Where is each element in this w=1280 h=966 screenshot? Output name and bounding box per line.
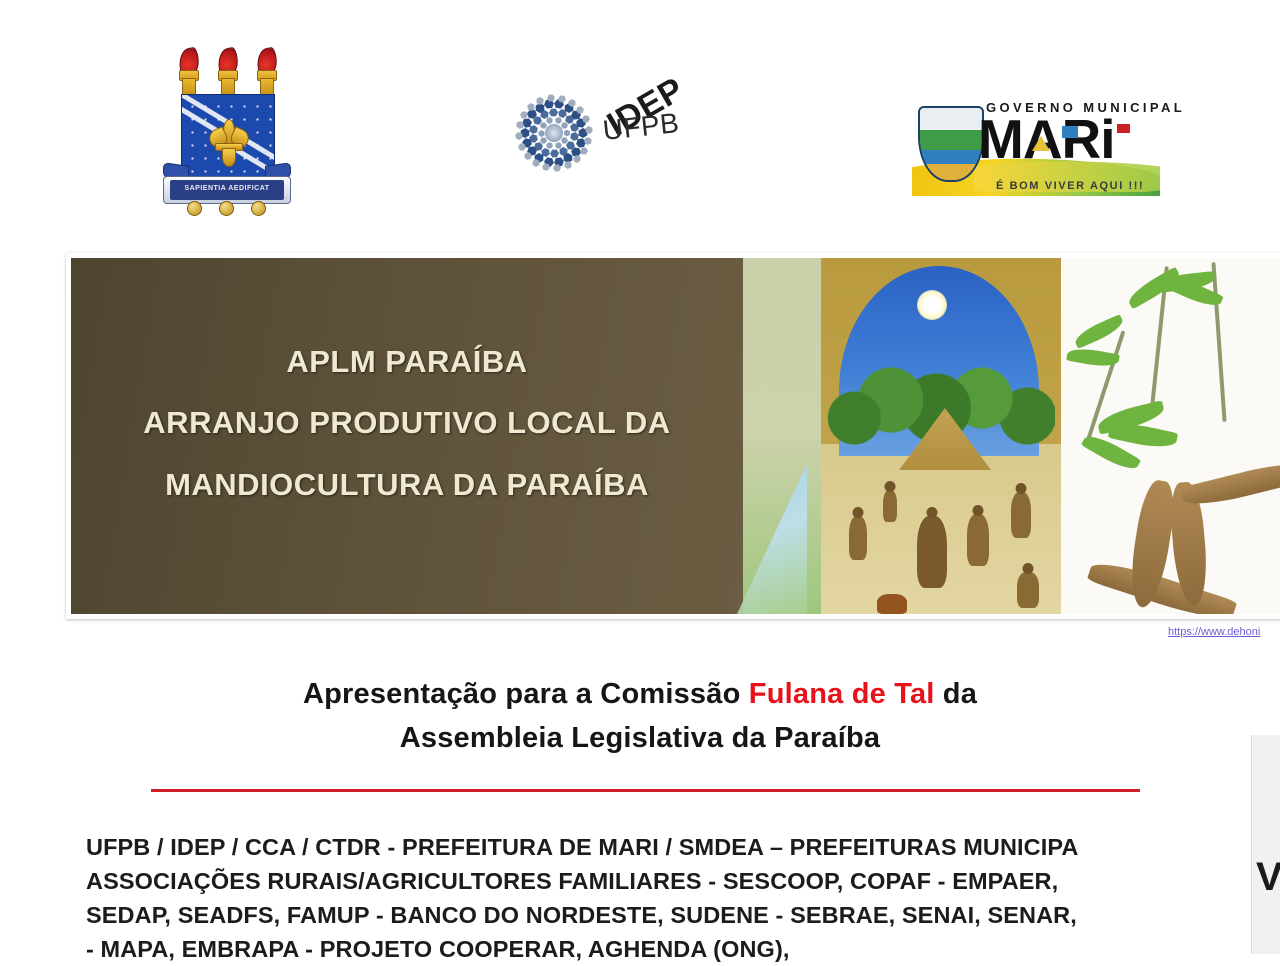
mandala-petal xyxy=(550,149,559,158)
ufpb-label: UFPB xyxy=(601,110,660,132)
village-figure xyxy=(883,490,897,522)
mari-government-logo: GOVERNO MUNICIPAL MARi É BOM VIVER AQUI … xyxy=(912,100,1160,200)
ufpb-crest-logo: SAPIENTIA AEDIFICAT xyxy=(163,48,289,216)
banner-title-line-2: ARRANJO PRODUTIVO LOCAL DA xyxy=(71,392,743,454)
mari-coat-of-arms-icon xyxy=(918,106,984,182)
red-divider xyxy=(151,789,1140,792)
right-edge-panel: V xyxy=(1251,735,1280,954)
title-banner: APLM PARAÍBA ARRANJO PRODUTIVO LOCAL DA … xyxy=(66,253,1280,619)
mandala-petal xyxy=(562,160,572,170)
crest-ornament xyxy=(187,201,202,216)
torch-icon xyxy=(177,48,199,98)
torches-icon xyxy=(177,48,277,98)
indigenous-village-illustration xyxy=(821,258,1061,614)
crest-shield xyxy=(181,94,275,188)
banner-title-panel: APLM PARAÍBA ARRANJO PRODUTIVO LOCAL DA … xyxy=(71,258,743,614)
logo-row: SAPIENTIA AEDIFICAT IDEP UFPB GOVERNO MU… xyxy=(0,0,1280,240)
mari-accent-triangle xyxy=(1032,136,1050,151)
village-figure xyxy=(967,514,989,566)
crest-motto-band: SAPIENTIA AEDIFICAT xyxy=(163,176,291,204)
cassava-root xyxy=(1180,457,1280,511)
mari-accent-blue xyxy=(1062,126,1078,138)
partners-list: UFPB / IDEP / CCA / CTDR - PREFEITURA DE… xyxy=(86,830,1280,966)
banner-title-text: APLM PARAÍBA ARRANJO PRODUTIVO LOCAL DA … xyxy=(71,332,743,516)
torch-icon xyxy=(216,48,238,98)
banner-title-line-1: APLM PARAÍBA xyxy=(71,332,743,392)
mandala-petal xyxy=(546,141,555,150)
idep-ufpb-logo: IDEP UFPB xyxy=(516,95,696,175)
mandala-petal xyxy=(564,130,571,137)
subtitle-part-2: da xyxy=(935,678,978,710)
village-figure xyxy=(1011,492,1031,538)
idep-wordmark: IDEP UFPB xyxy=(602,97,660,129)
mandala-core xyxy=(545,124,563,142)
banner-title-line-3: MANDIOCULTURA DA PARAÍBA xyxy=(71,454,743,516)
partners-line-4: - MAPA, EMBRAPA - PROJETO COOPERAR, AGHE… xyxy=(86,932,1280,966)
mandala-petal xyxy=(538,130,545,137)
banner-gradient-strip xyxy=(743,258,821,614)
crest-motto-text: SAPIENTIA AEDIFICAT xyxy=(170,180,284,200)
subtitle-line-1: Apresentação para a Comissão Fulana de T… xyxy=(0,672,1280,716)
village-figure xyxy=(849,516,867,560)
edge-panel-glyph: V xyxy=(1256,855,1280,900)
fleur-de-lis-icon xyxy=(209,119,247,165)
mari-accent-red xyxy=(1117,124,1130,133)
mari-tagline: É BOM VIVER AQUI !!! xyxy=(996,180,1144,192)
mandala-icon xyxy=(516,95,592,171)
cassava-plant-illustration xyxy=(1061,258,1280,614)
partners-line-1: UFPB / IDEP / CCA / CTDR - PREFEITURA DE… xyxy=(86,830,1280,864)
crest-ornament xyxy=(219,201,234,216)
torch-icon xyxy=(255,48,277,98)
sun-icon xyxy=(917,290,947,320)
village-figure xyxy=(917,516,947,588)
presentation-subtitle: Apresentação para a Comissão Fulana de T… xyxy=(0,672,1280,760)
crest-ornament xyxy=(251,201,266,216)
partners-line-3: SEDAP, SEADFS, FAMUP - BANCO DO NORDESTE… xyxy=(86,898,1280,932)
source-url-link[interactable]: https://www.dehoni xyxy=(1168,626,1280,638)
subtitle-part-1: Apresentação para a Comissão xyxy=(303,678,749,710)
cassava-stem xyxy=(1211,262,1226,422)
banner-strip-shape xyxy=(737,464,807,614)
subtitle-highlight: Fulana de Tal xyxy=(749,678,935,710)
mandala-petal xyxy=(548,107,557,116)
village-figure xyxy=(1017,572,1039,608)
mandala-petal xyxy=(535,96,545,106)
partners-line-2: ASSOCIAÇÕES RURAIS/AGRICULTORES FAMILIAR… xyxy=(86,864,1280,898)
subtitle-line-2: Assembleia Legislativa da Paraíba xyxy=(0,716,1280,760)
village-dog xyxy=(877,594,907,614)
